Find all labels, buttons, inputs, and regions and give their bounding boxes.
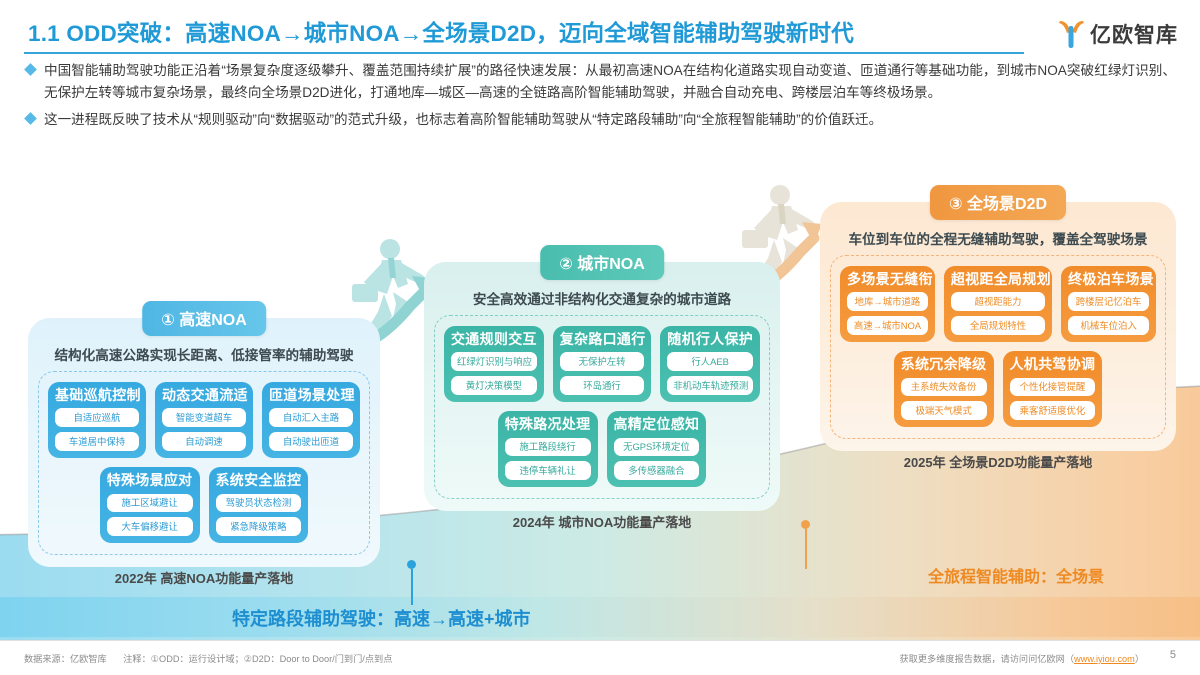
diamond-bullet-icon [24, 112, 37, 125]
connector-line [411, 569, 413, 605]
stage-card-full-scenario-d2d[interactable]: ③ 全场景D2D 车位到车位的全程无缝辅助驾驶，覆盖全驾驶场景 多场景无缝衔 地… [820, 202, 1176, 451]
feature-box[interactable]: 多场景无缝衔 地库→城市道路 高速→城市NOA [840, 266, 935, 342]
stage-chip-3: ③ 全场景D2D [930, 185, 1066, 220]
feature-header: 交通规则交互 [451, 332, 537, 347]
feature-pill: 无GPS环境定位 [614, 438, 700, 457]
progress-band [0, 597, 1200, 637]
feature-pill: 大车偏移避让 [107, 517, 193, 536]
feature-box[interactable]: 系统冗余降级 主系统失效备份 极端天气模式 [894, 351, 994, 427]
feature-box[interactable]: 高精定位感知 无GPS环境定位 多传感器融合 [607, 411, 707, 487]
stage-chip-2: ② 城市NOA [540, 245, 664, 280]
feature-header: 特殊场景应对 [107, 473, 193, 488]
connector-dot-icon [801, 520, 810, 529]
feature-pill: 紧急降级策略 [216, 517, 302, 536]
feature-pill: 地库→城市道路 [847, 292, 928, 311]
feature-box[interactable]: 随机行人保护 行人AEB 非机动车轨迹预测 [660, 326, 760, 402]
page-title: 1.1 ODD突破：高速NOA→城市NOA→全场景D2D，迈向全域智能辅助驾驶新… [28, 16, 854, 48]
feature-header: 基础巡航控制 [55, 388, 139, 403]
feature-pill: 自动汇入主路 [269, 408, 353, 427]
stage-card-city-noa[interactable]: ② 城市NOA 安全高效通过非结构化交通复杂的城市道路 交通规则交互 红绿灯识别… [424, 262, 780, 511]
feature-pill: 多传感器融合 [614, 461, 700, 480]
feature-box[interactable]: 交通规则交互 红绿灯识别与响应 黄灯决策模型 [444, 326, 544, 402]
feature-row: 特殊路况处理 施工路段绕行 违停车辆礼让 高精定位感知 无GPS环境定位 多传感… [444, 411, 760, 487]
feature-header: 复杂路口通行 [560, 332, 645, 347]
feature-pill: 违停车辆礼让 [505, 461, 591, 480]
feature-header: 终极泊车场景 [1068, 272, 1149, 287]
feature-pill: 非机动车轨迹预测 [667, 376, 753, 395]
feature-pill: 自动调速 [162, 432, 246, 451]
feature-box[interactable]: 匝道场景处理 自动汇入主路 自动驶出匝道 [262, 382, 360, 458]
feature-pill: 个性化接管提醒 [1010, 378, 1096, 397]
feature-pill: 行人AEB [667, 352, 753, 371]
feature-row: 多场景无缝衔 地库→城市道路 高速→城市NOA 超视距全局规划 超视距能力 全局… [840, 266, 1156, 342]
feature-box[interactable]: 系统安全监控 驾驶员状态检测 紧急降级策略 [209, 467, 309, 543]
logo-text: 亿欧智库 [1090, 19, 1178, 49]
band-label-left: 特定路段辅助驾驶：高速→高速+城市 [232, 605, 531, 631]
title-underline [24, 52, 1024, 54]
feature-pill: 自动驶出匝道 [269, 432, 353, 451]
feature-header: 动态交通流适 [162, 388, 246, 403]
footer-right-text: 获取更多维度报告数据，请访问问亿欧网（www.iyiou.com） [899, 651, 1144, 665]
bullet-item: 这一进程既反映了技术从“规则驱动”向“数据驱动”的范式升级，也标志着高阶智能辅助… [26, 109, 1176, 131]
feature-pill: 超视距能力 [951, 292, 1045, 311]
feature-box[interactable]: 特殊路况处理 施工路段绕行 违停车辆礼让 [498, 411, 598, 487]
feature-header: 高精定位感知 [614, 417, 700, 432]
feature-pill: 机械车位泊入 [1068, 316, 1149, 335]
connector-line [805, 529, 807, 569]
feature-header: 多场景无缝衔 [847, 272, 928, 287]
page-number: 5 [1170, 649, 1176, 661]
footer-cta-tail: ） [1135, 654, 1144, 664]
feature-pill: 环岛通行 [560, 376, 645, 395]
feature-box[interactable]: 终极泊车场景 跨楼层记忆泊车 机械车位泊入 [1061, 266, 1156, 342]
feature-pill: 驾驶员状态检测 [216, 494, 302, 513]
footer-source: 数据来源：亿欧智库 [24, 654, 107, 664]
feature-row: 基础巡航控制 自适应巡航 车道居中保持 动态交通流适 智能变道超车 自动调速 匝… [48, 382, 360, 458]
feature-pill: 车道居中保持 [55, 432, 139, 451]
footer-cta: 获取更多维度报告数据，请访问问亿欧网（ [899, 654, 1074, 664]
connector-dot-icon [407, 560, 416, 569]
feature-pill: 智能变道超车 [162, 408, 246, 427]
feature-box[interactable]: 特殊场景应对 施工区域避让 大车偏移避让 [100, 467, 200, 543]
feature-pill: 无保护左转 [560, 352, 645, 371]
feature-pill: 高速→城市NOA [847, 316, 928, 335]
brand-logo: 亿欧智库 [1056, 18, 1178, 50]
band-label-right: 全旅程智能辅助：全场景 [928, 563, 1104, 587]
feature-header: 随机行人保护 [667, 332, 753, 347]
feature-pill: 自适应巡航 [55, 408, 139, 427]
slide-root: 1.1 ODD突破：高速NOA→城市NOA→全场景D2D，迈向全域智能辅助驾驶新… [0, 0, 1200, 675]
feature-header: 人机共驾协调 [1010, 357, 1096, 372]
feature-box[interactable]: 基础巡航控制 自适应巡航 车道居中保持 [48, 382, 146, 458]
feature-header: 系统安全监控 [216, 473, 302, 488]
feature-header: 系统冗余降级 [901, 357, 987, 372]
stage-inner-1: 基础巡航控制 自适应巡航 车道居中保持 动态交通流适 智能变道超车 自动调速 匝… [38, 371, 370, 555]
stage-chip-1: ① 高速NOA [142, 301, 266, 336]
stage-caption-3: 2025年 全场景D2D功能量产落地 [820, 452, 1176, 471]
feature-row: 特殊场景应对 施工区域避让 大车偏移避让 系统安全监控 驾驶员状态检测 紧急降级… [48, 467, 360, 543]
feature-pill: 施工路段绕行 [505, 438, 591, 457]
stage-inner-2: 交通规则交互 红绿灯识别与响应 黄灯决策模型 复杂路口通行 无保护左转 环岛通行… [434, 315, 770, 499]
stage-card-highway-noa[interactable]: ① 高速NOA 结构化高速公路实现长距离、低接管率的辅助驾驶 基础巡航控制 自适… [28, 318, 380, 567]
feature-pill: 主系统失效备份 [901, 378, 987, 397]
bullet-text: 中国智能辅助驾驶功能正沿着“场景复杂度逐级攀升、覆盖范围持续扩展”的路径快速发展… [44, 60, 1176, 104]
feature-pill: 黄灯决策模型 [451, 376, 537, 395]
bullet-item: 中国智能辅助驾驶功能正沿着“场景复杂度逐级攀升、覆盖范围持续扩展”的路径快速发展… [26, 60, 1176, 104]
connector-stem-left [407, 560, 416, 605]
feature-box[interactable]: 人机共驾协调 个性化接管提醒 乘客舒适度优化 [1003, 351, 1103, 427]
feature-row: 系统冗余降级 主系统失效备份 极端天气模式 人机共驾协调 个性化接管提醒 乘客舒… [840, 351, 1156, 427]
feature-header: 特殊路况处理 [505, 417, 591, 432]
feature-row: 交通规则交互 红绿灯识别与响应 黄灯决策模型 复杂路口通行 无保护左转 环岛通行… [444, 326, 760, 402]
feature-header: 超视距全局规划 [951, 272, 1045, 287]
footer-left-text: 数据来源：亿欧智库 注释：①ODD：运行设计域；②D2D：Door to Doo… [24, 651, 406, 665]
feature-box[interactable]: 超视距全局规划 超视距能力 全局规划特性 [944, 266, 1052, 342]
feature-pill: 跨楼层记忆泊车 [1068, 292, 1149, 311]
feature-box[interactable]: 动态交通流适 智能变道超车 自动调速 [155, 382, 253, 458]
feature-pill: 全局规划特性 [951, 316, 1045, 335]
stage-inner-3: 多场景无缝衔 地库→城市道路 高速→城市NOA 超视距全局规划 超视距能力 全局… [830, 255, 1166, 439]
yiou-sprout-logo-icon [1056, 18, 1086, 50]
diamond-bullet-icon [24, 63, 37, 76]
feature-box[interactable]: 复杂路口通行 无保护左转 环岛通行 [553, 326, 652, 402]
bullet-list: 中国智能辅助驾驶功能正沿着“场景复杂度逐级攀升、覆盖范围持续扩展”的路径快速发展… [26, 60, 1176, 136]
footer-link[interactable]: www.iyiou.com [1074, 654, 1135, 664]
stage-caption-1: 2022年 高速NOA功能量产落地 [28, 568, 380, 587]
connector-stem-right [801, 520, 810, 569]
footer-notes: 注释：①ODD：运行设计域；②D2D：Door to Door/门到门/点到点 [123, 654, 392, 664]
footer-bar: 数据来源：亿欧智库 注释：①ODD：运行设计域；②D2D：Door to Doo… [0, 640, 1200, 675]
stage-caption-2: 2024年 城市NOA功能量产落地 [424, 512, 780, 531]
feature-header: 匝道场景处理 [269, 388, 353, 403]
bullet-text: 这一进程既反映了技术从“规则驱动”向“数据驱动”的范式升级，也标志着高阶智能辅助… [44, 109, 882, 131]
feature-pill: 施工区域避让 [107, 494, 193, 513]
feature-pill: 极端天气模式 [901, 401, 987, 420]
feature-pill: 乘客舒适度优化 [1010, 401, 1096, 420]
feature-pill: 红绿灯识别与响应 [451, 352, 537, 371]
